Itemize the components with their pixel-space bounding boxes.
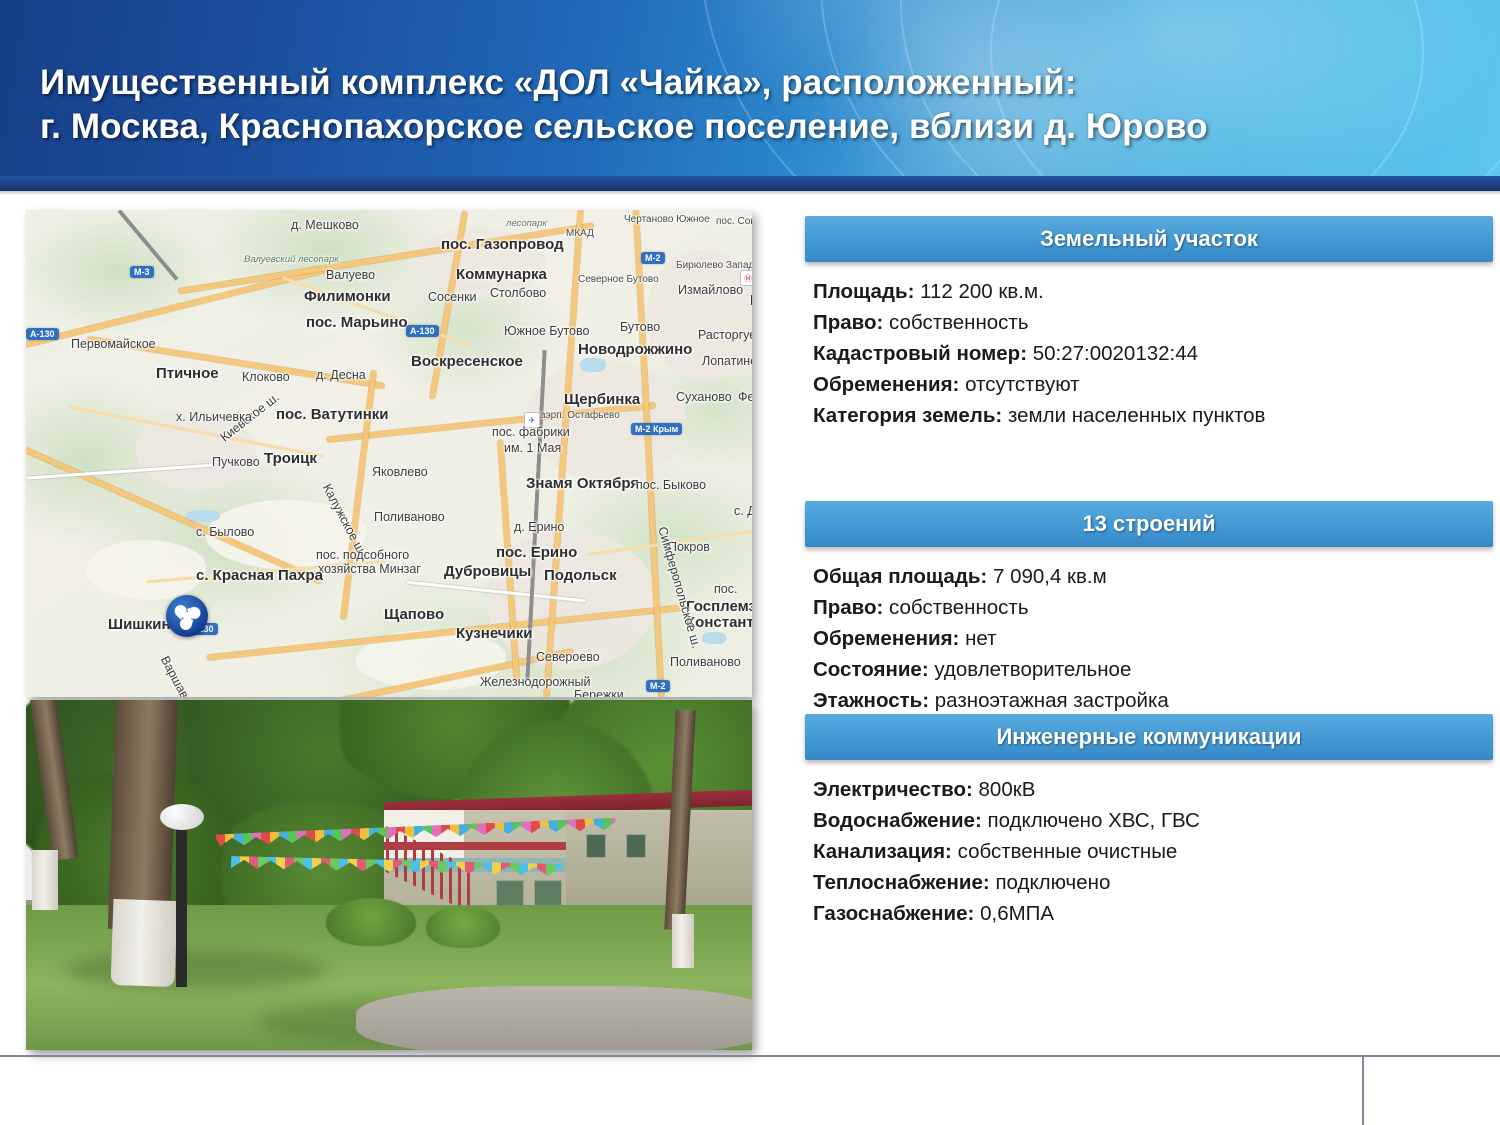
- panel-buildings: 13 строений Общая площадь: 7 090,4 кв.м …: [805, 501, 1493, 716]
- map-place-label: аэрп. Остафьево: [540, 410, 620, 421]
- detail-value: собственность: [889, 311, 1028, 334]
- footer-horizontal-rule: [0, 1055, 1500, 1057]
- detail-row: Кадастровый номер: 50:27:0020132:44: [813, 338, 1493, 369]
- map-place-label: х. Ильичевка: [176, 410, 252, 424]
- map-place-label: пос. Газопровод: [441, 236, 564, 253]
- property-photo-image: [26, 700, 752, 1050]
- map-place-label: Коммунарка: [456, 266, 547, 283]
- map-place-label: Южное Бутово: [504, 324, 589, 338]
- detail-value: 800кВ: [979, 778, 1036, 801]
- detail-row: Этажность: разноэтажная застройка: [813, 685, 1493, 716]
- photo-lamp-head: [160, 804, 204, 830]
- detail-value: земли населенных пунктов: [1008, 404, 1265, 427]
- map-place-label: Поливаново: [670, 655, 741, 669]
- map-place-label: Северное Бутово: [578, 274, 659, 285]
- detail-row: Право: собственность: [813, 307, 1493, 338]
- map-place-label: с. Красная Пахра: [196, 567, 323, 584]
- detail-label: Газоснабжение:: [813, 902, 974, 925]
- detail-row: Теплоснабжение: подключено: [813, 867, 1493, 898]
- map-place-label: Североево: [536, 650, 600, 664]
- detail-row: Газоснабжение: 0,6МПА: [813, 898, 1493, 929]
- photo-walkway: [356, 986, 752, 1050]
- detail-value: удовлетворительное: [934, 658, 1131, 681]
- map-place-label: д. Мешково: [291, 218, 359, 232]
- panel-body-land-plot: Площадь: 112 200 кв.м. Право: собственно…: [805, 262, 1493, 431]
- detail-row: Площадь: 112 200 кв.м.: [813, 276, 1493, 307]
- map-place-label: Суханово: [676, 390, 732, 404]
- map-place-label: Валуево: [326, 268, 375, 282]
- map-place-label: хозяйства Минзаг: [318, 562, 421, 576]
- detail-value: отсутствуют: [965, 373, 1079, 396]
- map-water-body: [702, 632, 726, 644]
- map-road-shield: М-3: [130, 266, 154, 278]
- detail-row: Обременения: нет: [813, 623, 1493, 654]
- map-place-label: пос. Ватутинки: [276, 406, 388, 423]
- detail-label: Электричество:: [813, 778, 973, 801]
- map-place-label: пос.: [714, 582, 737, 596]
- detail-value: 50:27:0020132:44: [1033, 342, 1198, 365]
- footer-vertical-rule: [1362, 1056, 1364, 1125]
- map-place-label: пос. Совх. им. Лен.: [716, 216, 752, 227]
- photo-lamp-post: [176, 822, 187, 987]
- map-place-label: с. Былово: [196, 525, 254, 539]
- panel-land-plot: Земельный участок Площадь: 112 200 кв.м.…: [805, 216, 1493, 431]
- photo-shrub: [426, 906, 500, 948]
- photo-window: [626, 834, 646, 858]
- detail-value: нет: [965, 627, 996, 650]
- map-place-label: Железнодорожный: [480, 675, 590, 689]
- map-place-label: Птичное: [156, 365, 219, 382]
- map-place-label: Дубровицы: [444, 563, 531, 580]
- photo-birch-trunk-whitewash: [672, 914, 694, 968]
- map-place-label: Подольск: [544, 567, 617, 584]
- map-place-label: Клоково: [242, 370, 290, 384]
- photo-lawn-shadow: [66, 950, 326, 990]
- map-open-field: [86, 540, 206, 600]
- page-title-line-1: Имущественный комплекс «ДОЛ «Чайка», рас…: [40, 63, 1077, 102]
- detail-label: Водоснабжение:: [813, 809, 982, 832]
- photo-building-wing: [566, 812, 752, 912]
- map-place-label: Кузнечики: [456, 625, 532, 642]
- map-water-body: [580, 358, 606, 372]
- detail-label: Обременения:: [813, 627, 959, 650]
- map-place-label: Новодрожжино: [578, 341, 692, 358]
- panel-title: 13 строений: [1082, 511, 1215, 537]
- map-road-shield: А-130: [26, 328, 59, 340]
- map-place-label: им. 1 Мая: [504, 441, 561, 455]
- map-place-label: Видн: [750, 292, 752, 309]
- map-place-label: пос. подсобного: [316, 548, 409, 562]
- panel-body-buildings: Общая площадь: 7 090,4 кв.м Право: собст…: [805, 547, 1493, 716]
- map-place-label: Щапово: [384, 606, 444, 623]
- map-place-label: Бережки: [574, 688, 624, 697]
- map-place-label: Измайлово: [678, 283, 743, 297]
- map-place-label: Чертаново Южное: [624, 214, 710, 225]
- map-place-label: д. Десна: [316, 368, 366, 382]
- map-place-label: Валуевский лесопарк: [244, 254, 339, 265]
- detail-label: Право:: [813, 311, 883, 334]
- detail-label: Кадастровый номер:: [813, 342, 1027, 365]
- header-bottom-band: [0, 176, 1500, 191]
- detail-value: 7 090,4 кв.м: [993, 565, 1107, 588]
- panel-header-utilities: Инженерные коммуникации: [805, 714, 1493, 760]
- map-road-shield: А-130: [406, 325, 439, 337]
- map-place-label: Знамя Октября: [526, 475, 639, 492]
- detail-value: 0,6МПА: [980, 902, 1054, 925]
- map-place-label: пос. Ерино: [496, 544, 577, 561]
- detail-value: собственность: [889, 596, 1028, 619]
- detail-row: Общая площадь: 7 090,4 кв.м: [813, 561, 1493, 592]
- location-map-image: ✈ Ⓜ д. МешковолесопаркЧертаново Южноепос…: [26, 210, 752, 697]
- panel-header-land-plot: Земельный участок: [805, 216, 1493, 262]
- map-place-label: Бутово: [620, 320, 660, 334]
- detail-label: Этажность:: [813, 689, 929, 712]
- detail-row: Водоснабжение: подключено ХВС, ГВС: [813, 805, 1493, 836]
- detail-value: разноэтажная застройка: [935, 689, 1169, 712]
- header-band-shadow: [0, 191, 1500, 195]
- detail-row: Канализация: собственные очистные: [813, 836, 1493, 867]
- map-road-shield: М-2 Крым: [631, 423, 682, 435]
- slide-header-banner: Имущественный комплекс «ДОЛ «Чайка», рас…: [0, 0, 1500, 176]
- panel-header-buildings: 13 строений: [805, 501, 1493, 547]
- map-place-label: д. Ерино: [514, 520, 564, 534]
- detail-label: Категория земель:: [813, 404, 1002, 427]
- detail-label: Обременения:: [813, 373, 959, 396]
- detail-label: Право:: [813, 596, 883, 619]
- map-place-label: Первомайское: [71, 337, 156, 351]
- map-place-label: с. Домодед: [734, 504, 752, 518]
- photo-window: [586, 834, 606, 858]
- map-place-label: Столбово: [490, 286, 546, 300]
- photo-birch-trunk-whitewash: [32, 850, 58, 910]
- map-place-label: пос. фабрики: [492, 425, 570, 439]
- map-place-label: Воскресенское: [411, 353, 523, 370]
- detail-value: подключено: [995, 871, 1110, 894]
- map-place-label: Троицк: [264, 450, 317, 467]
- map-place-label: пос. Быково: [636, 478, 706, 492]
- map-place-label: Бирюлево Западное: [676, 260, 752, 271]
- panel-body-utilities: Электричество: 800кВ Водоснабжение: подк…: [805, 760, 1493, 929]
- map-place-label: Поливаново: [374, 510, 445, 524]
- map-place-label: Пучково: [212, 455, 260, 469]
- map-place-label: Филимонки: [304, 288, 391, 305]
- map-place-label: пос. Марьино: [306, 314, 408, 331]
- map-place-label: Госплемзавод: [686, 598, 752, 615]
- panel-utilities: Инженерные коммуникации Электричество: 8…: [805, 714, 1493, 929]
- detail-row: Обременения: отсутствуют: [813, 369, 1493, 400]
- detail-row: Право: собственность: [813, 592, 1493, 623]
- detail-label: Канализация:: [813, 840, 952, 863]
- page-title-line-2: г. Москва, Краснопахорское сельское посе…: [40, 105, 1460, 149]
- detail-row: Категория земель: земли населенных пункт…: [813, 400, 1493, 431]
- map-place-label: Яковлево: [372, 465, 428, 479]
- map-place-label: Расторгуево: [698, 328, 752, 342]
- map-place-label: Федюково: [738, 390, 752, 404]
- detail-label: Состояние:: [813, 658, 929, 681]
- detail-row: Состояние: удовлетворительное: [813, 654, 1493, 685]
- page-title: Имущественный комплекс «ДОЛ «Чайка», рас…: [40, 61, 1460, 149]
- map-road-shield: М-2: [646, 680, 670, 692]
- map-road-shield: М-2: [641, 252, 665, 264]
- map-place-label: Сосенки: [428, 290, 477, 304]
- detail-label: Общая площадь:: [813, 565, 987, 588]
- detail-value: подключено ХВС, ГВС: [987, 809, 1199, 832]
- map-place-label: МКАД: [566, 228, 594, 239]
- panel-title: Земельный участок: [1040, 226, 1258, 252]
- panel-title: Инженерные коммуникации: [996, 724, 1301, 750]
- photo-shrub: [326, 898, 416, 946]
- detail-row: Электричество: 800кВ: [813, 774, 1493, 805]
- detail-label: Площадь:: [813, 280, 914, 303]
- detail-label: Теплоснабжение:: [813, 871, 990, 894]
- map-place-label: лесопарк: [506, 218, 547, 229]
- map-place-label: Лопатино: [702, 354, 752, 368]
- photo-birch-trunk-whitewash: [111, 899, 178, 987]
- map-place-label: Щербинка: [564, 391, 640, 408]
- map-location-marker[interactable]: [166, 595, 208, 637]
- detail-value: 112 200 кв.м.: [920, 280, 1044, 303]
- detail-value: собственные очистные: [958, 840, 1178, 863]
